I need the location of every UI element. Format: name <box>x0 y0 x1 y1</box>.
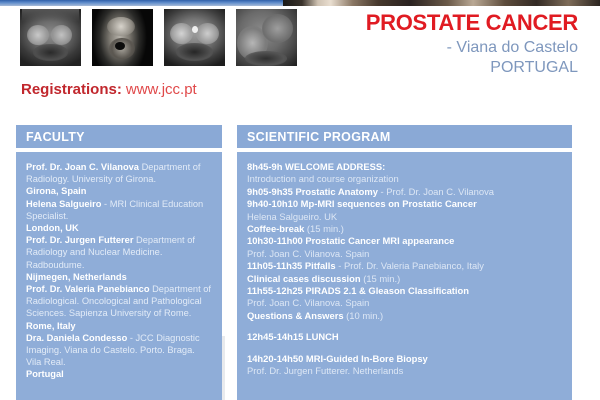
faculty-member-name: Prof. Dr. Joan C. Vilanova <box>26 162 139 172</box>
program-item-note: (15 min.) <box>361 273 401 284</box>
top-strip-photo-band <box>283 0 600 6</box>
mri-thumbnail-1 <box>20 9 81 66</box>
program-item-title: Clinical cases discussion <box>247 273 361 284</box>
program-item: 14h20-14h50 MRI-Guided In-Bore Biopsy Pr… <box>247 353 562 378</box>
program-item-title: 8h45-9h WELCOME ADDRESS: <box>247 161 385 172</box>
program-item: 11h55-12h25 PIRADS 2.1 & Gleason Classif… <box>247 285 562 310</box>
program-panel: 8h45-9h WELCOME ADDRESS: Introduction an… <box>237 152 572 400</box>
program-item-sub: Prof. Joan C. Vilanova. Spain <box>247 248 562 260</box>
faculty-member-city: Portugal <box>26 368 212 380</box>
faculty-member: Dra. Daniela Condesso - JCC Diagnostic I… <box>26 332 212 381</box>
faculty-member: Prof. Dr. Joan C. Vilanova Department of… <box>26 161 212 198</box>
faculty-heading: FACULTY <box>16 125 222 148</box>
program-item-title: 14h20-14h50 MRI-Guided In-Bore Biopsy <box>247 353 428 364</box>
program-item-title: Questions & Answers <box>247 310 344 321</box>
faculty-member: Prof. Dr. Jurgen Futterer Department of … <box>26 234 212 283</box>
faculty-member-name: Dra. Daniela Condesso <box>26 333 127 343</box>
program-item-sub: Prof. Dr. Jurgen Futterer. Netherlands <box>247 365 562 377</box>
program-item-title: 9h05-9h35 Prostatic Anatomy <box>247 186 378 197</box>
program-item: 10h30-11h00 Prostatic Cancer MRI appeara… <box>247 235 562 260</box>
registrations-label: Registrations: <box>21 81 122 98</box>
program-item-speaker: - Prof. Dr. Valeria Panebianco, Italy <box>336 260 484 271</box>
registrations-url[interactable]: www.jcc.pt <box>126 81 197 98</box>
title-block: PROSTATE CANCER - Viana do Castelo PORTU… <box>366 11 578 77</box>
program-item: Clinical cases discussion (15 min.) <box>247 273 562 285</box>
faculty-member-name: Helena Salgueiro <box>26 199 101 209</box>
mri-thumbnail-3 <box>164 9 225 66</box>
top-photo-strip <box>0 0 600 6</box>
program-heading: SCIENTIFIC PROGRAM <box>237 125 572 148</box>
faculty-member-name: Prof. Dr. Jurgen Futterer <box>26 235 133 245</box>
program-item: Questions & Answers (10 min.) <box>247 310 562 322</box>
page-title: PROSTATE CANCER <box>366 11 578 35</box>
program-item: 12h45-14h15 LUNCH <box>247 331 562 343</box>
program-item-title: 10h30-11h00 Prostatic Cancer MRI appeara… <box>247 235 454 246</box>
program-item-note: (15 min.) <box>304 223 344 234</box>
program-item-sub: Helena Salgueiro. UK <box>247 211 562 223</box>
program-item-title: 9h40-10h10 Mp-MRI sequences on Prostatic… <box>247 198 477 209</box>
faculty-member-city: Nijmegen, Netherlands <box>26 271 212 283</box>
faculty-member-city: Rome, Italy <box>26 320 212 332</box>
mri-thumbnail-row <box>20 9 297 66</box>
faculty-member: Helena Salgueiro - MRI Clinical Educatio… <box>26 198 212 235</box>
program-item-title: 11h55-12h25 PIRADS 2.1 & Gleason Classif… <box>247 285 469 296</box>
flyer-page: PROSTATE CANCER - Viana do Castelo PORTU… <box>0 0 600 400</box>
program-item: 8h45-9h WELCOME ADDRESS: Introduction an… <box>247 161 562 186</box>
program-item-sub: Introduction and course organization <box>247 173 562 185</box>
program-item-title: Coffee-break <box>247 223 304 234</box>
program-item: 11h05-11h35 Pitfalls - Prof. Dr. Valeria… <box>247 260 562 272</box>
title-location: - Viana do Castelo <box>366 38 578 58</box>
registrations-line: Registrations:www.jcc.pt <box>21 81 197 99</box>
program-item-speaker: - Prof. Dr. Joan C. Vilanova <box>378 186 494 197</box>
program-item-title: 11h05-11h35 Pitfalls <box>247 260 336 271</box>
faculty-member-name: Prof. Dr. Valeria Panebianco <box>26 284 150 294</box>
mri-thumbnail-4 <box>236 9 297 66</box>
program-item-title: 12h45-14h15 LUNCH <box>247 331 339 342</box>
top-strip-blue-band <box>0 0 283 6</box>
title-country: PORTUGAL <box>366 58 578 77</box>
faculty-member-city: London, UK <box>26 222 212 234</box>
faculty-panel: Prof. Dr. Joan C. Vilanova Department of… <box>16 152 222 400</box>
faculty-member-city: Girona, Spain <box>26 185 212 197</box>
program-item-sub: Prof. Joan C. Vilanova. Spain <box>247 297 562 309</box>
program-item: 9h05-9h35 Prostatic Anatomy - Prof. Dr. … <box>247 186 562 198</box>
faculty-member: Prof. Dr. Valeria Panebianco Department … <box>26 283 212 332</box>
mri-thumbnail-2 <box>92 9 153 66</box>
program-item: 9h40-10h10 Mp-MRI sequences on Prostatic… <box>247 198 562 223</box>
program-item-note: (10 min.) <box>344 310 384 321</box>
program-item: Coffee-break (15 min.) <box>247 223 562 235</box>
